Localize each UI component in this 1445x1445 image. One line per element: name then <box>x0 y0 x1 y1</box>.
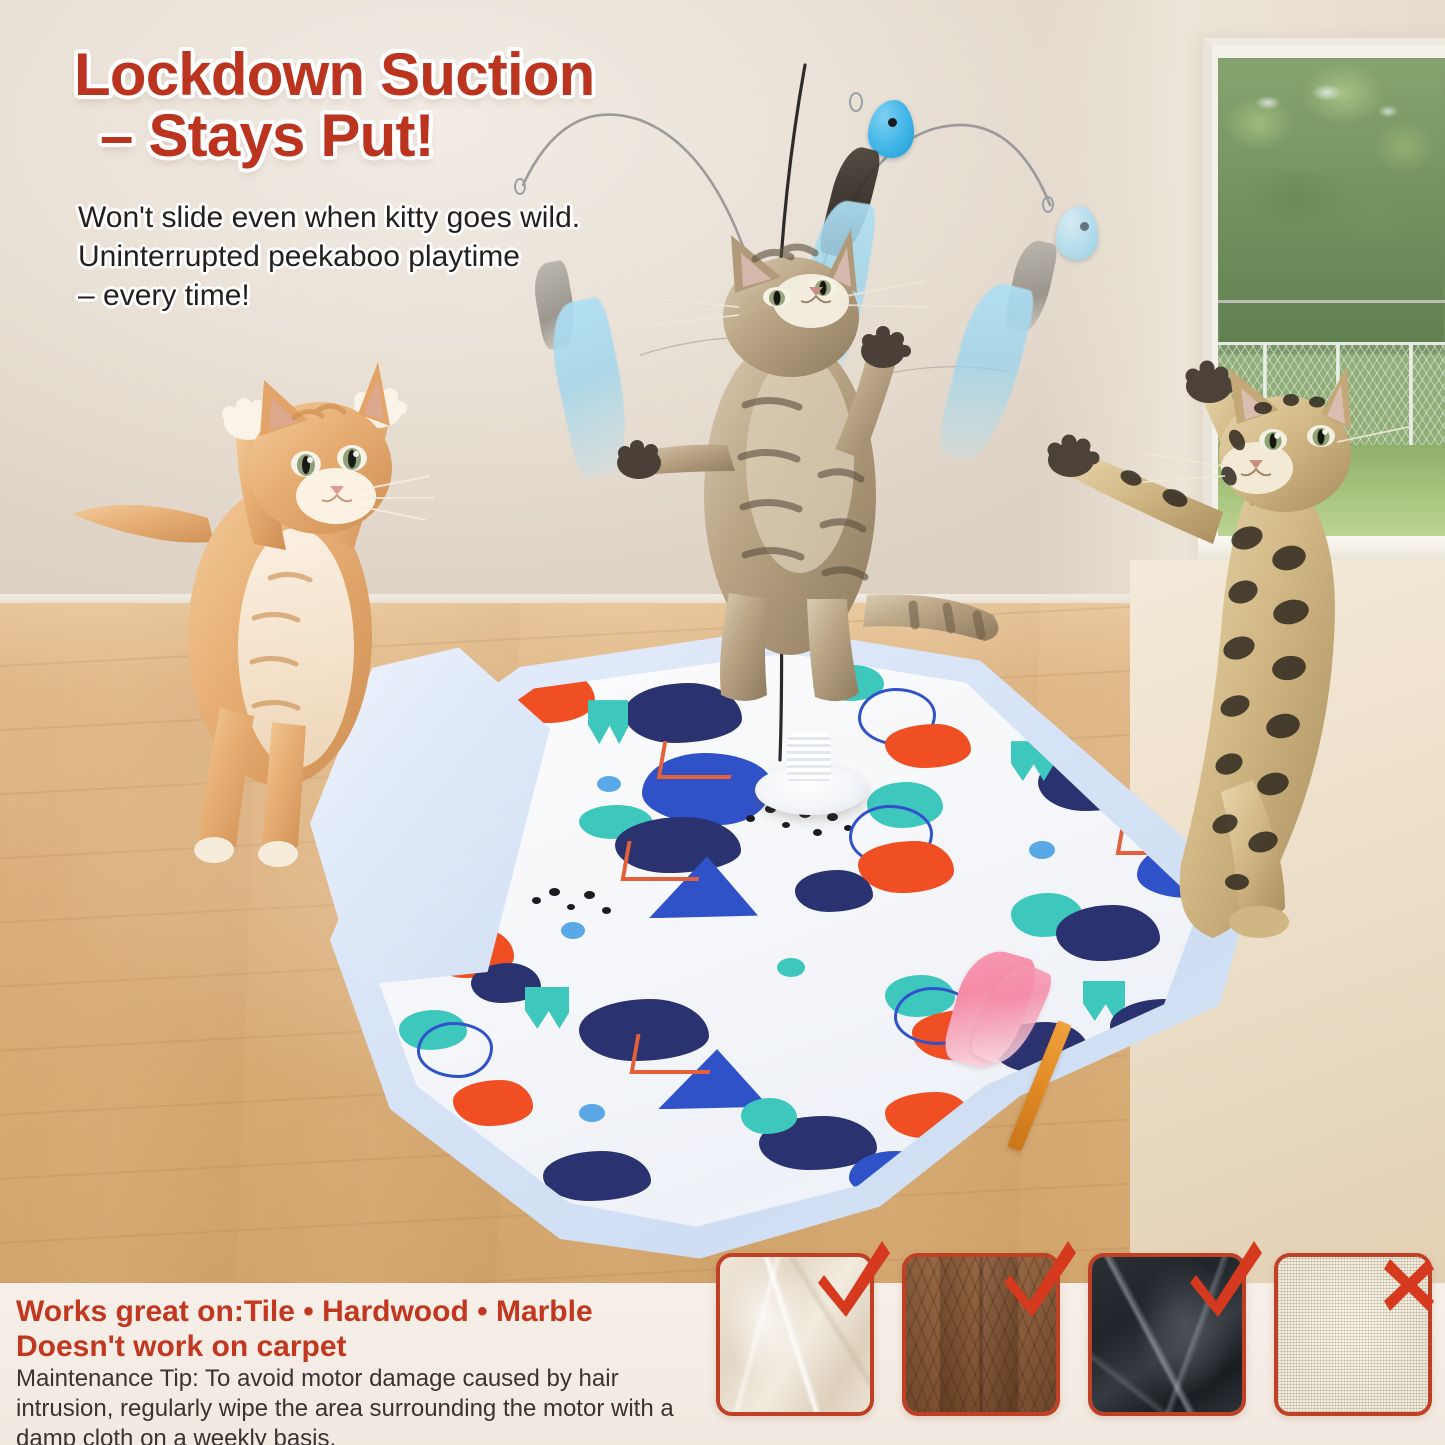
maintenance-tip: Maintenance Tip: To avoid motor damage c… <box>16 1364 696 1445</box>
page-title: Lockdown Suction – Stays Put! <box>74 44 774 166</box>
wand-clip-left <box>514 178 526 195</box>
headline-line-2: – Stays Put! <box>74 105 774 166</box>
hardwood-texture <box>906 1257 1056 1412</box>
claim-works-on: Works great on:Tile • Hardwood • Marble <box>16 1294 706 1329</box>
headline-line-1: Lockdown Suction <box>74 41 595 108</box>
wand-clip-center <box>849 92 863 112</box>
surface-swatch-row <box>716 1253 1432 1421</box>
subhead-line-2: Uninterrupted peekaboo playtime <box>78 237 678 276</box>
swatch-hardwood <box>902 1253 1060 1416</box>
claim-not-carpet: Doesn't work on carpet <box>16 1329 706 1364</box>
plush-bird-eye-right <box>1080 222 1089 231</box>
compatibility-claims: Works great on:Tile • Hardwood • Marble … <box>16 1294 706 1365</box>
subheadline: Won't slide even when kitty goes wild. U… <box>78 198 678 315</box>
plush-bird-eye-center <box>888 118 897 127</box>
wand-clip-right <box>1042 196 1054 213</box>
swatch-tile <box>716 1253 874 1416</box>
cat-bengal <box>985 330 1425 960</box>
marble-texture <box>1092 1257 1242 1412</box>
swatch-carpet <box>1274 1253 1432 1416</box>
subhead-line-3: – every time! <box>78 276 678 315</box>
cat-orange-tabby <box>58 318 488 868</box>
product-marketing-image: Lockdown Suction – Stays Put! Won't slid… <box>0 0 1445 1445</box>
swatch-marble <box>1088 1253 1246 1416</box>
subhead-line-1: Won't slide even when kitty goes wild. <box>78 198 678 237</box>
tile-texture <box>720 1257 870 1412</box>
carpet-texture <box>1278 1257 1428 1412</box>
